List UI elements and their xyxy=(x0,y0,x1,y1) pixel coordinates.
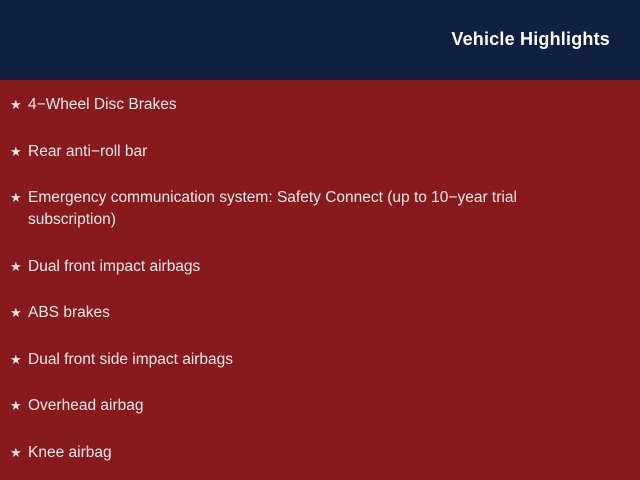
highlights-panel: ★ 4−Wheel Disc Brakes ★ Rear anti−roll b… xyxy=(0,80,640,480)
star-bullet-icon: ★ xyxy=(10,256,28,278)
list-item-label: ABS brakes xyxy=(28,302,620,324)
list-item: ★ Knee airbag xyxy=(10,442,620,464)
star-bullet-icon: ★ xyxy=(10,141,28,163)
list-item-label: Rear anti−roll bar xyxy=(28,141,620,163)
list-item-label: Knee airbag xyxy=(28,442,620,464)
star-bullet-icon: ★ xyxy=(10,349,28,371)
star-bullet-icon: ★ xyxy=(10,302,28,324)
star-bullet-icon: ★ xyxy=(10,94,28,116)
list-item: ★ Dual front side impact airbags xyxy=(10,349,620,371)
list-item-label: Dual front side impact airbags xyxy=(28,349,620,371)
star-bullet-icon: ★ xyxy=(10,187,28,209)
list-item: ★ ABS brakes xyxy=(10,302,620,324)
list-item: ★ Emergency communication system: Safety… xyxy=(10,187,620,231)
list-item: ★ Rear anti−roll bar xyxy=(10,141,620,163)
vehicle-highlights-slide: Vehicle Highlights ★ 4−Wheel Disc Brakes… xyxy=(0,0,640,480)
list-item: ★ 4−Wheel Disc Brakes xyxy=(10,94,620,116)
list-item-label: Dual front impact airbags xyxy=(28,256,620,278)
header-bar: Vehicle Highlights xyxy=(0,0,640,80)
list-item: ★ Dual front impact airbags xyxy=(10,256,620,278)
highlights-list: ★ 4−Wheel Disc Brakes ★ Rear anti−roll b… xyxy=(10,94,620,464)
page-title: Vehicle Highlights xyxy=(451,30,610,50)
list-item: ★ Overhead airbag xyxy=(10,395,620,417)
list-item-label: 4−Wheel Disc Brakes xyxy=(28,94,620,116)
star-bullet-icon: ★ xyxy=(10,395,28,417)
list-item-label: Emergency communication system: Safety C… xyxy=(28,187,620,231)
star-bullet-icon: ★ xyxy=(10,442,28,464)
list-item-label: Overhead airbag xyxy=(28,395,620,417)
